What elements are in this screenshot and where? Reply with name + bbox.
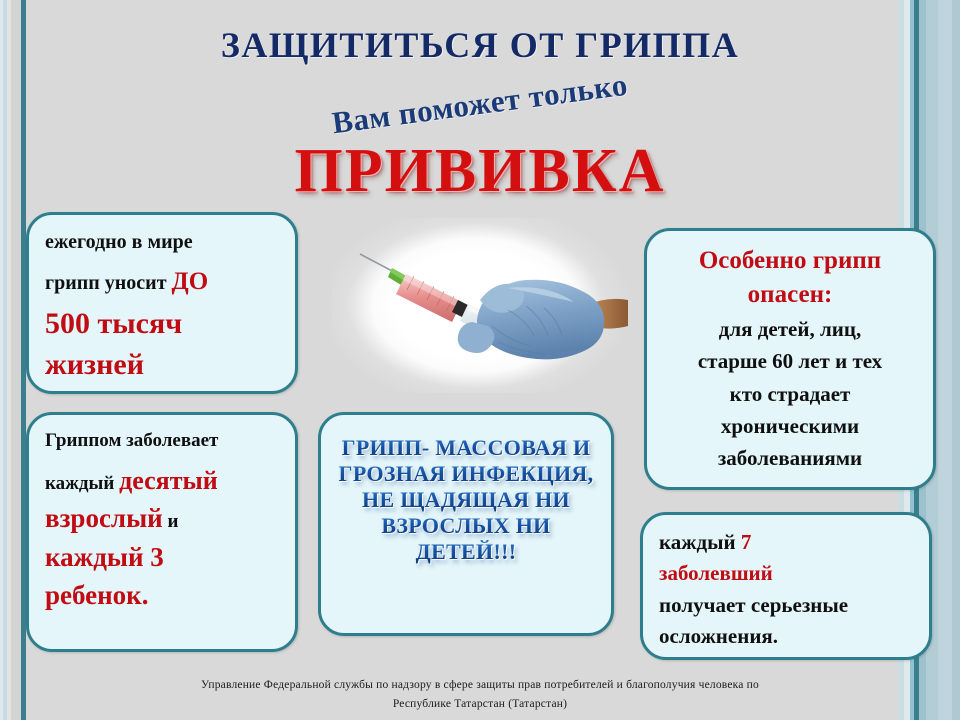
massive-line-3: НЕ ЩАДЯЩАЯ НИ (333, 487, 599, 513)
headline-vaccination: ПРИВИВКА (0, 136, 960, 207)
massive-line-4: ВЗРОСЛЫХ НИ (333, 513, 599, 539)
massive-line-2: ГРОЗНАЯ ИНФЕКЦИЯ, (333, 461, 599, 487)
deaths-line-2-black: грипп уносит (45, 272, 172, 294)
gloved-hand-syringe-icon (332, 218, 632, 393)
complications-line-4: осложнения. (659, 623, 913, 650)
incidence-line-4: каждый 3 (45, 540, 279, 575)
complications-line-3: получает серьезные (659, 592, 913, 619)
deaths-line-2-red: ДО (172, 268, 209, 295)
deaths-line-2: грипп уносит ДО (45, 266, 279, 299)
footer-authority: Управление Федеральной службы по надзору… (40, 676, 920, 714)
footer-line-1: Управление Федеральной службы по надзору… (40, 676, 920, 695)
risk-body-4: хроническими (659, 413, 921, 440)
incidence-line-2-red: десятый (119, 466, 218, 495)
massive-line-1: ГРИПП- МАССОВАЯ И (333, 435, 599, 461)
risk-body-5: заболеваниями (659, 445, 921, 472)
deaths-number-word: тысяч (90, 307, 182, 340)
page-title: ЗАЩИТИТЬСЯ ОТ ГРИППА (0, 24, 960, 66)
fact-box-deaths: ежегодно в мире грипп уносит ДО 500 тыся… (26, 212, 298, 394)
incidence-line-1: Гриппом заболевает (45, 429, 279, 454)
incidence-line-5: ребенок. (45, 578, 279, 613)
risk-heading-2: опасен: (659, 279, 921, 312)
fact-box-complications: каждый 7 заболевший получает серьезные о… (640, 512, 932, 660)
flu-vaccination-poster: ЗАЩИТИТЬСЯ ОТ ГРИППА Вам поможет только … (0, 0, 960, 720)
subtitle-text: Вам поможет только (330, 67, 630, 142)
risk-heading-1: Особенно грипп (659, 245, 921, 278)
massive-line-5: ДЕТЕЙ!!! (333, 539, 599, 565)
syringe-illustration (332, 218, 632, 393)
incidence-line-3-black: и (163, 511, 179, 532)
risk-body-3: кто страдает (659, 381, 921, 408)
complications-line-1-red: 7 (741, 530, 752, 554)
deaths-number: 500 (45, 307, 90, 340)
complications-line-1: каждый 7 (659, 529, 913, 556)
risk-body-2: старше 60 лет и тех (659, 348, 921, 375)
subtitle: Вам поможет только (0, 86, 960, 122)
deaths-line-3: 500 тысяч (45, 304, 279, 343)
complications-line-1-black: каждый (659, 530, 741, 554)
footer-line-2: Республике Татарстан (Татарстан) (40, 695, 920, 714)
incidence-line-2: каждый десятый (45, 464, 279, 498)
deaths-line-4: жизней (45, 345, 279, 384)
deaths-line-1: ежегодно в мире (45, 229, 279, 255)
fact-box-risk-groups: Особенно грипп опасен: для детей, лиц, с… (644, 228, 936, 490)
complications-line-2: заболевший (659, 560, 913, 587)
risk-body-1: для детей, лиц, (659, 316, 921, 343)
fact-box-massive-infection: ГРИПП- МАССОВАЯ И ГРОЗНАЯ ИНФЕКЦИЯ, НЕ Щ… (318, 412, 614, 636)
incidence-line-3: взрослый и (45, 501, 279, 536)
incidence-line-3-red: взрослый (45, 503, 163, 533)
incidence-line-2-black: каждый (45, 473, 119, 494)
fact-box-incidence: Гриппом заболевает каждый десятый взросл… (26, 412, 298, 652)
